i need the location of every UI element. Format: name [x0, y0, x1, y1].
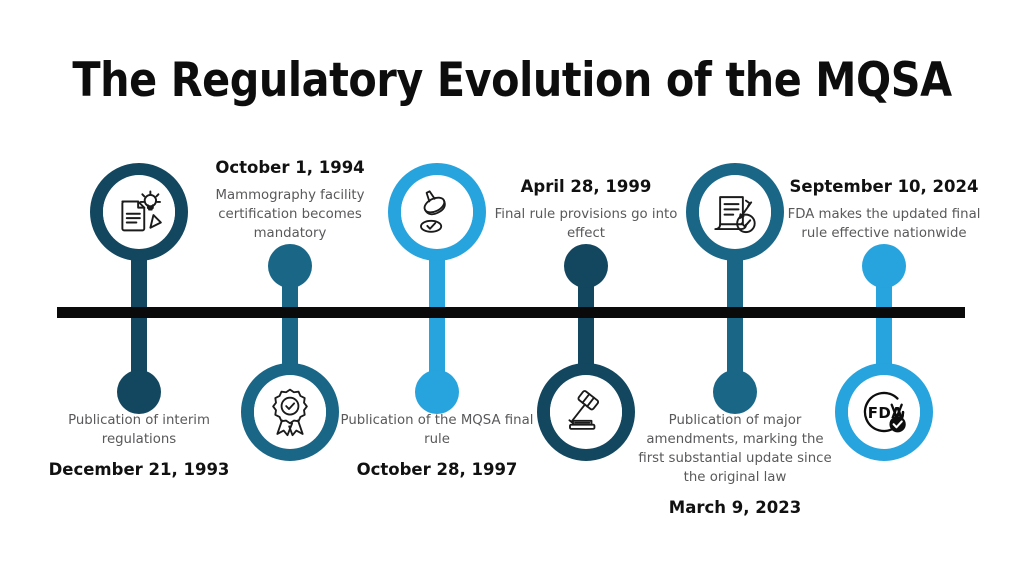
timeline-node-circle [90, 163, 188, 261]
timeline-node-circle [388, 163, 486, 261]
timeline-node-dot [415, 370, 459, 414]
timeline-axis [57, 307, 965, 318]
gavel-icon [550, 375, 622, 449]
timeline-node-dot [268, 244, 312, 288]
timeline-node-circle [537, 363, 635, 461]
timeline-node-label-group: Publication of interim regulationsDecemb… [39, 412, 239, 480]
event-description: Final rule provisions go into effect [486, 206, 686, 244]
infographic-canvas: The Regulatory Evolution of the MQSA Pub… [0, 0, 1024, 576]
event-date: September 10, 2024 [784, 177, 984, 198]
event-date: October 28, 1997 [337, 460, 537, 481]
rubber-stamp-check-icon [401, 175, 473, 249]
timeline-node-label-group: April 28, 1999Final rule provisions go i… [486, 177, 686, 244]
timeline-node-circle: FDA [835, 363, 933, 461]
timeline-node-circle [686, 163, 784, 261]
event-description: Publication of major amendments, marking… [635, 412, 835, 488]
event-date: March 9, 2023 [635, 498, 835, 519]
timeline-node-label-group: Publication of major amendments, marking… [635, 412, 835, 518]
event-date: April 28, 1999 [486, 177, 686, 198]
event-description: FDA makes the updated final rule effecti… [784, 206, 984, 244]
award-ribbon-check-icon [254, 375, 326, 449]
timeline-node-label-group: September 10, 2024FDA makes the updated … [784, 177, 984, 244]
timeline-node-circle [241, 363, 339, 461]
document-lightbulb-pencil-icon [103, 175, 175, 249]
event-description: Publication of interim regulations [39, 412, 239, 450]
fda-badge-check-icon: FDA [848, 375, 920, 449]
timeline-node-dot [713, 370, 757, 414]
timeline-node-dot [564, 244, 608, 288]
timeline-node-label-group: October 1, 1994Mammography facility cert… [190, 158, 390, 244]
timeline-node-label-group: Publication of the MQSA final ruleOctobe… [337, 412, 537, 480]
event-date: December 21, 1993 [39, 460, 239, 481]
timeline-node-dot [117, 370, 161, 414]
page-title: The Regulatory Evolution of the MQSA [61, 55, 962, 107]
event-date: October 1, 1994 [190, 158, 390, 179]
event-description: Publication of the MQSA final rule [337, 412, 537, 450]
timeline-node-dot [862, 244, 906, 288]
signed-document-check-icon [699, 175, 771, 249]
event-description: Mammography facility certification becom… [190, 187, 390, 244]
